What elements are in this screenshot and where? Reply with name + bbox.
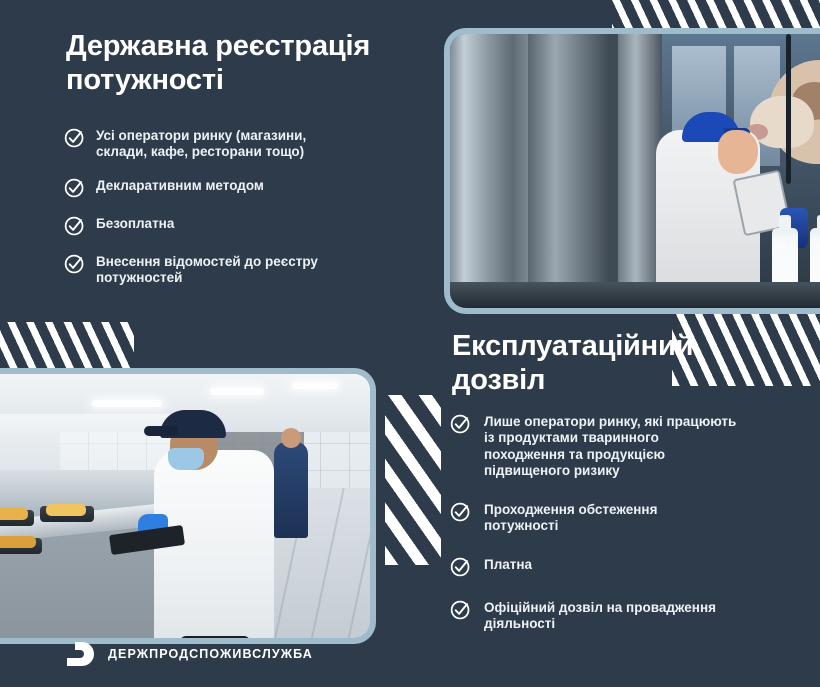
registration-bullet-list: Усі оператори ринку (магазини, склади, к… <box>64 128 384 304</box>
list-item-label: Платна <box>484 557 532 573</box>
diagonal-stripes-arrow-icon <box>385 395 441 565</box>
derzhprodspozhyvsluzhba-logo-icon <box>64 639 94 669</box>
list-item-label: Офіційний дозвіл на провадження діяльнос… <box>484 600 716 633</box>
list-item-label: Лише оператори ринку, які працюють із пр… <box>484 414 736 480</box>
page-title-permit: Експлуатаційний дозвіл <box>452 330 752 397</box>
check-circle-icon <box>450 599 472 621</box>
list-item: Усі оператори ринку (магазини, склади, к… <box>64 128 384 161</box>
list-item-label: Декларативним методом <box>96 178 264 194</box>
list-item: Безоплатна <box>64 216 384 237</box>
diagonal-stripes-mid-left-icon <box>0 322 134 374</box>
list-item: Лише оператори ринку, які працюють із пр… <box>450 414 780 480</box>
footer-branding: ДЕРЖПРОДСПОЖИВСЛУЖБА <box>64 639 313 669</box>
organization-name: ДЕРЖПРОДСПОЖИВСЛУЖБА <box>108 647 313 661</box>
list-item: Офіційний дозвіл на провадження діяльнос… <box>450 600 780 633</box>
canteen-inspection-illustration <box>0 374 370 638</box>
list-item-label: Внесення відомостей до реєстру потужност… <box>96 254 318 287</box>
list-item: Платна <box>450 557 780 578</box>
list-item: Декларативним методом <box>64 178 384 199</box>
dairy-farm-illustration <box>450 34 820 308</box>
permit-bullet-list: Лише оператори ринку, які працюють із пр… <box>450 414 780 655</box>
page-title-registration: Державна реєстрація потужності <box>66 30 426 97</box>
list-item-label: Проходження обстеження потужності <box>484 502 657 535</box>
check-circle-icon <box>64 253 86 275</box>
list-item: Внесення відомостей до реєстру потужност… <box>64 254 384 287</box>
list-item-label: Усі оператори ринку (магазини, склади, к… <box>96 128 306 161</box>
list-item: Проходження обстеження потужності <box>450 502 780 535</box>
check-circle-icon <box>64 127 86 149</box>
check-circle-icon <box>450 413 472 435</box>
check-circle-icon <box>64 177 86 199</box>
canteen-inspection-photo <box>0 368 376 644</box>
list-item-label: Безоплатна <box>96 216 174 232</box>
infographic-poster: Державна реєстрація потужності Усі опера… <box>0 0 820 687</box>
check-circle-icon <box>64 215 86 237</box>
check-circle-icon <box>450 556 472 578</box>
check-circle-icon <box>450 501 472 523</box>
dairy-farm-photo <box>444 28 820 314</box>
